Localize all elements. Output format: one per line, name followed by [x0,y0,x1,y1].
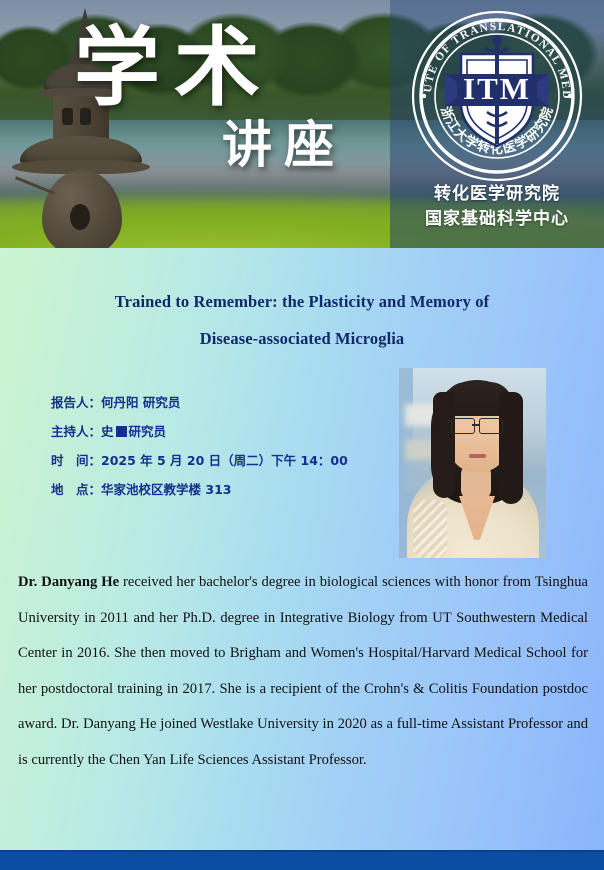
logo-caption: 转化医学研究院 国家基础科学中心 [390,182,604,232]
portrait-mouth [469,454,486,458]
portrait-hair-left [433,392,455,498]
info-row-speaker: 报告人：何丹阳 研究员 [51,388,391,417]
lecture-title-line1: Trained to Remember: the Plasticity and … [0,283,604,320]
info-label-venue: 地 点： [51,475,101,504]
portrait-hair-right [499,392,523,504]
banner-calligraphy-main: 学术 [74,22,274,114]
lecture-title: Trained to Remember: the Plasticity and … [0,283,604,357]
portrait-glasses-left-lens [451,418,475,434]
banner-calligraphy-sub: 讲座 [222,118,346,172]
portrait-glasses-bridge [472,424,480,426]
logo-panel: INSTITUTE OF TRANSLATIONAL MEDICINE 浙江大学… [390,0,604,248]
lecture-info-block: 报告人：何丹阳 研究员 主持人：史研究员 时 间：2025 年 5 月 20 日… [51,388,391,504]
seminar-poster: 学术 讲座 INSTITUTE OF TRANSLATIONAL MEDICIN… [0,0,604,870]
info-label-host: 主持人： [51,417,101,446]
lecture-title-line2: Disease-associated Microglia [0,320,604,357]
info-value-host-surname: 史 [101,424,114,439]
bio-text: received her bachelor's degree in biolog… [18,574,588,768]
info-value-venue: 华家池校区教学楼 313 [101,482,231,497]
info-label-speaker: 报告人： [51,388,101,417]
speaker-portrait [399,368,546,558]
info-row-host: 主持人：史研究员 [51,417,391,446]
info-value-host-title: 研究员 [129,424,167,439]
svg-text:ITM: ITM [463,71,531,106]
missing-glyph-box-icon [116,426,127,437]
header-banner: 学术 讲座 INSTITUTE OF TRANSLATIONAL MEDICIN… [0,0,604,248]
info-value-speaker: 何丹阳 研究员 [101,395,180,410]
info-row-time: 时 间：2025 年 5 月 20 日（周二）下午 14：00 [51,446,391,475]
info-row-venue: 地 点：华家池校区教学楼 313 [51,475,391,504]
bio-lead-name: Dr. Danyang He [18,574,119,590]
logo-caption-line1: 转化医学研究院 [390,182,604,207]
portrait-lace-trim [413,500,447,558]
bottom-accent-bar [0,850,604,870]
logo-caption-line2: 国家基础科学中心 [390,207,604,232]
info-value-time: 2025 年 5 月 20 日（周二）下午 14：00 [101,453,348,468]
itm-seal-logo-icon: INSTITUTE OF TRANSLATIONAL MEDICINE 浙江大学… [409,8,585,184]
portrait-glasses-right-lens [479,418,503,434]
speaker-bio: Dr. Danyang He received her bachelor's d… [18,565,588,778]
info-label-time: 时 间： [51,446,101,475]
